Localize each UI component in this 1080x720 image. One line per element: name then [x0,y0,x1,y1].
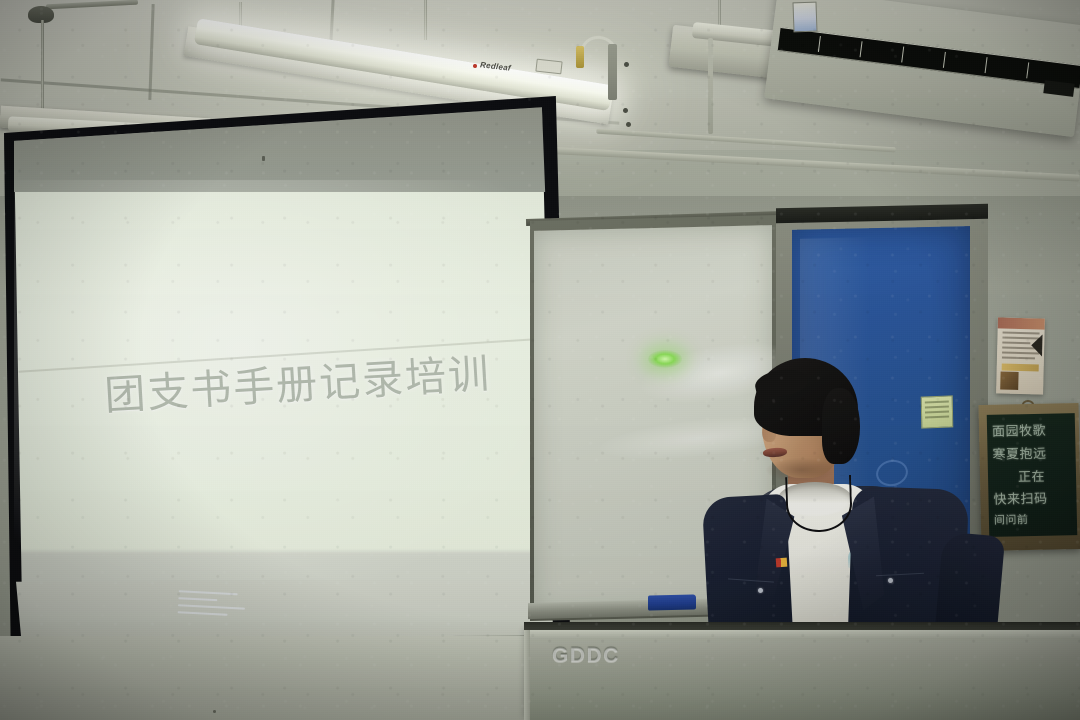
ac-slat [860,41,863,57]
lower-wall-speck [213,710,216,713]
hair-side [822,388,860,464]
jacket-chest-patch [776,558,788,568]
podium-logo-text: GDDC [552,644,620,668]
classroom-photo-scene: Redleaf 团支书手册记录培训 [0,0,1080,720]
jacket-print-line [178,604,245,610]
poster-text-line [1002,342,1030,345]
lower-wall [0,636,540,720]
jacket-print-line [178,597,217,601]
jacket-print-line [178,611,228,616]
ac-slat [818,36,821,52]
podium-top-edge [524,630,1080,639]
wall-conduit-vertical [708,38,713,134]
ceiling-hanger-rod-3 [424,0,427,40]
ac-slat [985,57,988,73]
wall-screw-1 [624,62,629,67]
speaker-person [700,352,1030,652]
podium-left-edge [524,630,530,720]
screen-bottom-band [16,578,554,640]
jaw-shadow [766,458,836,482]
jacket-button [888,578,893,583]
laser-dot-icon [648,350,682,368]
ac-slat [901,47,904,63]
ac-slat [943,52,946,68]
wall-screw-2 [623,108,628,113]
wall-mount-plate [608,44,617,100]
whiteboard-eraser[interactable] [648,594,696,610]
poster-title-band [998,317,1045,329]
jacket-print-text [177,590,248,622]
housing-spec-tag [535,59,562,75]
ac-sticker-label [792,2,817,33]
screen-speck [262,156,265,161]
poster-corner-fold [1031,334,1043,356]
ac-slat [1026,62,1029,78]
jacket-button [758,588,763,593]
wall-cable-yellow [576,46,584,68]
wall-screw-3 [626,122,631,127]
